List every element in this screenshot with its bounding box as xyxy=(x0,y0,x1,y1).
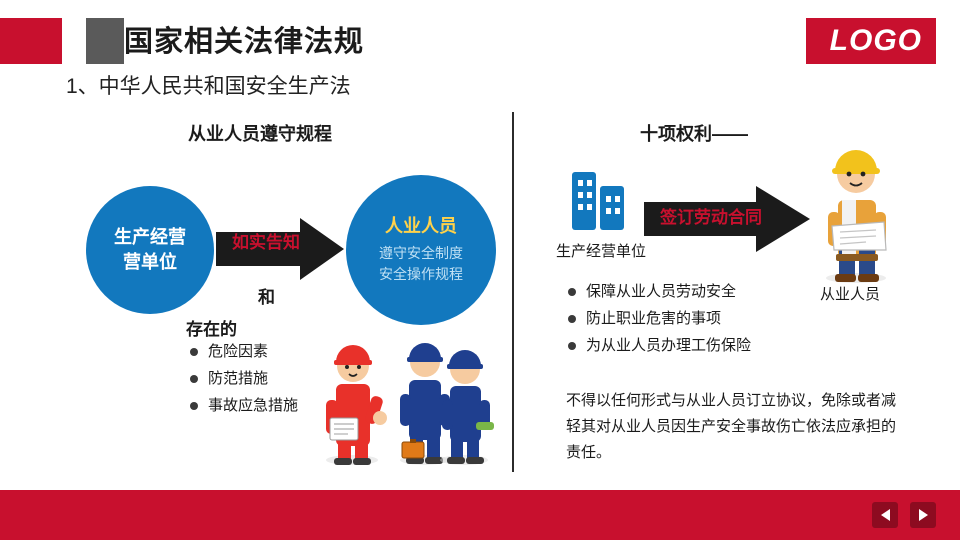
building-icon xyxy=(566,166,634,236)
next-slide-button[interactable] xyxy=(910,502,936,528)
slide: 国家相关法律法规 LOGO 1、中华人民共和国安全生产法 从业人员遵守规程 生产… xyxy=(0,0,960,540)
circle-employee: 人业人员 遵守安全制度 安全操作规程 xyxy=(346,175,496,325)
left-section-heading: 从业人员遵守规程 xyxy=(188,120,332,146)
column-divider xyxy=(512,112,514,472)
left-word-he: 和 xyxy=(258,283,275,308)
worker-icon xyxy=(806,138,906,284)
right-bullet-list: 保障从业人员劳动安全 防止职业危害的事项 为从业人员办理工伤保险 xyxy=(566,278,751,359)
list-item: 为从业人员办理工伤保险 xyxy=(566,332,751,359)
list-item: 保障从业人员劳动安全 xyxy=(566,278,751,305)
circle-producer-unit: 生产经营 营单位 xyxy=(86,186,214,314)
caption-producer-unit: 生产经营单位 xyxy=(556,240,646,261)
subtitle: 1、中华人民共和国安全生产法 xyxy=(66,70,351,100)
header-accent-bar-left xyxy=(0,18,62,64)
page-title: 国家相关法律法规 xyxy=(124,20,364,64)
circle-employee-title: 人业人员 xyxy=(385,215,457,237)
people-group-icon xyxy=(306,322,496,466)
circle-employee-sub1: 遵守安全制度 xyxy=(379,243,463,264)
footer-bar xyxy=(0,490,960,540)
header-accent-bar-grey xyxy=(86,18,124,64)
list-item: 事故应急措施 xyxy=(188,392,298,419)
right-arrow-label: 签订劳动合同 xyxy=(660,203,762,228)
list-item: 防范措施 xyxy=(188,365,298,392)
left-arrow-label: 如实告知 xyxy=(232,228,300,253)
right-section-heading: 十项权利—— xyxy=(640,120,748,146)
list-item: 危险因素 xyxy=(188,338,298,365)
right-note-text: 不得以任何形式与从业人员订立协议，免除或者减轻其对从业人员因生产安全事故伤亡依法… xyxy=(566,388,896,466)
logo: LOGO xyxy=(830,18,922,64)
caption-worker: 从业人员 xyxy=(820,283,880,304)
circle-producer-line1: 生产经营 xyxy=(114,225,186,250)
circle-employee-sub2: 安全操作规程 xyxy=(379,264,463,285)
prev-slide-button[interactable] xyxy=(872,502,898,528)
arrow-left-icon xyxy=(881,509,890,521)
circle-producer-line2: 营单位 xyxy=(123,250,177,275)
arrow-right-icon xyxy=(919,509,928,521)
left-word-cunzai: 存在的 xyxy=(186,315,237,340)
left-bullet-list: 危险因素 防范措施 事故应急措施 xyxy=(188,338,298,419)
list-item: 防止职业危害的事项 xyxy=(566,305,751,332)
